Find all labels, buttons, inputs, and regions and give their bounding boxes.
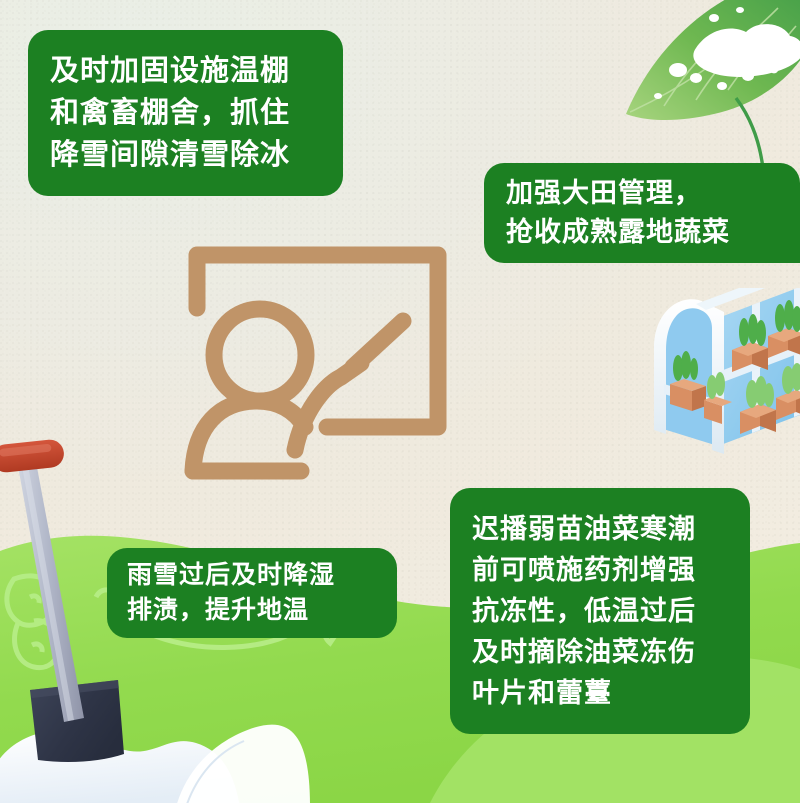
callout-line: 及时加固设施温棚 (50, 50, 343, 92)
teacher-whiteboard-icon (175, 235, 460, 480)
callout-line: 抢收成熟露地蔬菜 (506, 213, 800, 252)
callout-line: 及时摘除油菜冻伤 (472, 632, 750, 673)
callout-line: 加强大田管理， (506, 174, 800, 213)
shovel-shaft (18, 462, 84, 722)
callout-reinforce-greenhouses: 及时加固设施温棚 和禽畜棚舍，抓住 降雪间隙清雪除冰 (28, 30, 343, 196)
shovel-shaft-gloss (22, 465, 74, 721)
shovel-handle (0, 438, 65, 473)
callout-line: 抗冻性，低温过后 (472, 591, 750, 632)
callout-line: 雨雪过后及时降湿 (127, 558, 397, 593)
callout-line: 排渍，提升地温 (127, 593, 397, 628)
callout-field-management: 加强大田管理， 抢收成熟露地蔬菜 (484, 163, 800, 263)
callout-line: 迟播弱苗油菜寒潮 (472, 509, 750, 550)
callout-line: 和禽畜棚舍，抓住 (50, 92, 343, 134)
callout-dehumidify-drainage: 雨雪过后及时降湿 排渍，提升地温 (107, 548, 397, 638)
callout-line: 叶片和蕾薹 (472, 673, 750, 714)
callout-line: 前可喷施药剂增强 (472, 550, 750, 591)
poster-canvas: 及时加固设施温棚 和禽畜棚舍，抓住 降雪间隙清雪除冰 加强大田管理， 抢收成熟露… (0, 0, 800, 803)
callout-rapeseed-frost-care: 迟播弱苗油菜寒潮 前可喷施药剂增强 抗冻性，低温过后 及时摘除油菜冻伤 叶片和蕾… (450, 488, 750, 734)
callout-line: 降雪间隙清雪除冰 (50, 134, 343, 176)
greenhouse-icon (648, 288, 800, 464)
